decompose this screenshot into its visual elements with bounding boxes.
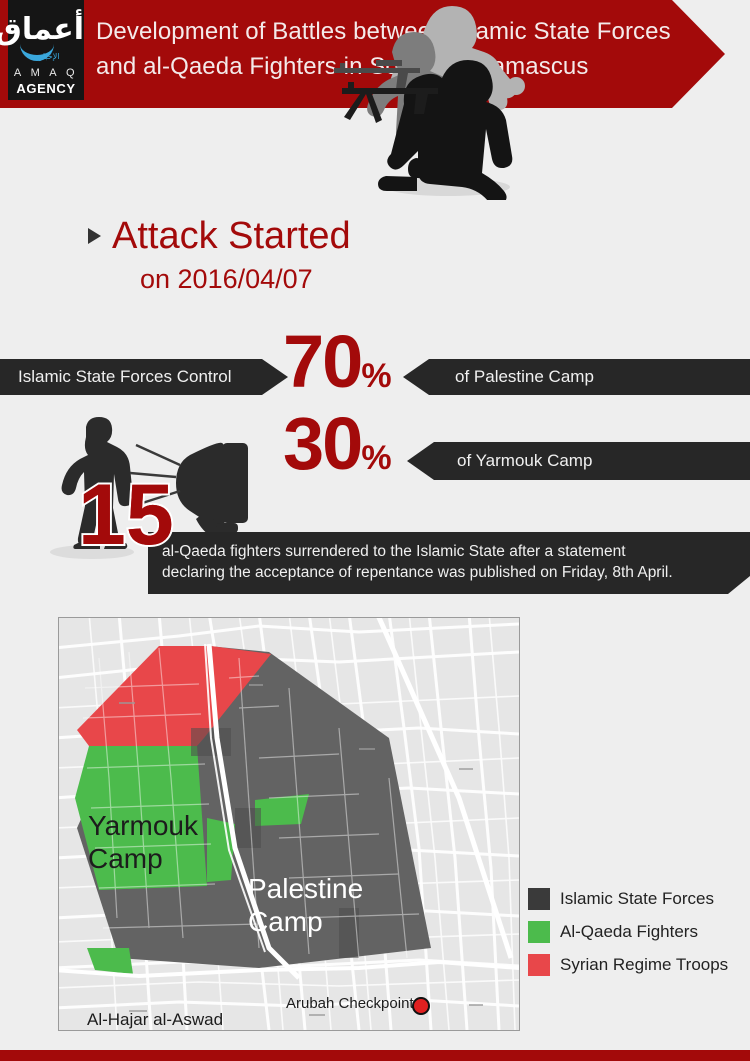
- map-label-palestine: Palestine Camp: [248, 872, 363, 938]
- attack-headline: Attack Started: [112, 214, 351, 258]
- control-label-bar: Islamic State Forces Control: [0, 359, 288, 395]
- surrender-text-line2: declaring the acceptance of repentance w…: [162, 564, 673, 581]
- attack-date: on 2016/04/07: [140, 262, 313, 296]
- percent-yarmouk-symbol: %: [361, 439, 391, 477]
- map-legend: Islamic State Forces Al-Qaeda Fighters S…: [528, 888, 738, 987]
- legend-item-islamic-state: Islamic State Forces: [528, 888, 738, 910]
- legend-label-islamic-state: Islamic State Forces: [560, 888, 714, 910]
- map-label-yarmouk-line2: Camp: [88, 842, 198, 875]
- percent-palestine-symbol: %: [361, 357, 391, 395]
- amaq-logo: أعماق الإخبارية A M A Q AGENCY: [8, 0, 84, 100]
- legend-label-syrian-regime: Syrian Regime Troops: [560, 954, 728, 976]
- legend-label-al-qaeda: Al-Qaeda Fighters: [560, 921, 698, 943]
- legend-item-syrian-regime: Syrian Regime Troops: [528, 954, 738, 976]
- triangle-right-icon: [88, 228, 101, 244]
- infographic-root: أعماق الإخبارية A M A Q AGENCY Developme…: [0, 0, 750, 1061]
- logo-arabic-subtitle: الإخبارية: [8, 50, 84, 64]
- legend-swatch-syrian-regime: [528, 954, 550, 976]
- map-label-palestine-line1: Palestine: [248, 872, 363, 905]
- footer-bar: [0, 1050, 750, 1061]
- legend-swatch-al-qaeda: [528, 921, 550, 943]
- target-bar-palestine: of Palestine Camp: [403, 359, 750, 395]
- map-label-palestine-line2: Camp: [248, 905, 363, 938]
- logo-latin-subtitle: AGENCY: [8, 80, 84, 98]
- surrender-text-line1: al-Qaeda fighters surrendered to the Isl…: [162, 543, 626, 560]
- map-label-yarmouk-line1: Yarmouk: [88, 809, 198, 842]
- surrender-count: 15: [78, 472, 174, 558]
- percent-yarmouk: 30%: [283, 407, 392, 481]
- target-label-yarmouk: of Yarmouk Camp: [407, 442, 750, 480]
- soldiers-silhouette-illustration: [330, 0, 540, 200]
- legend-item-al-qaeda: Al-Qaeda Fighters: [528, 921, 738, 943]
- map-label-hajar-al-aswad: Al-Hajar al-Aswad: [87, 1010, 223, 1030]
- legend-swatch-islamic-state: [528, 888, 550, 910]
- map-label-arubah-checkpoint: Arubah Checkpoint: [286, 995, 414, 1013]
- percent-yarmouk-value: 30: [283, 402, 361, 485]
- checkpoint-dot-icon: [412, 997, 430, 1015]
- control-label-text: Islamic State Forces Control: [0, 359, 288, 395]
- map-label-yarmouk: Yarmouk Camp: [88, 809, 198, 875]
- target-label-palestine: of Palestine Camp: [403, 359, 750, 395]
- target-bar-yarmouk: of Yarmouk Camp: [407, 442, 750, 480]
- percent-palestine-value: 70: [283, 320, 361, 403]
- surrender-statement-box: al-Qaeda fighters surrendered to the Isl…: [148, 532, 750, 594]
- percent-palestine: 70%: [283, 325, 392, 399]
